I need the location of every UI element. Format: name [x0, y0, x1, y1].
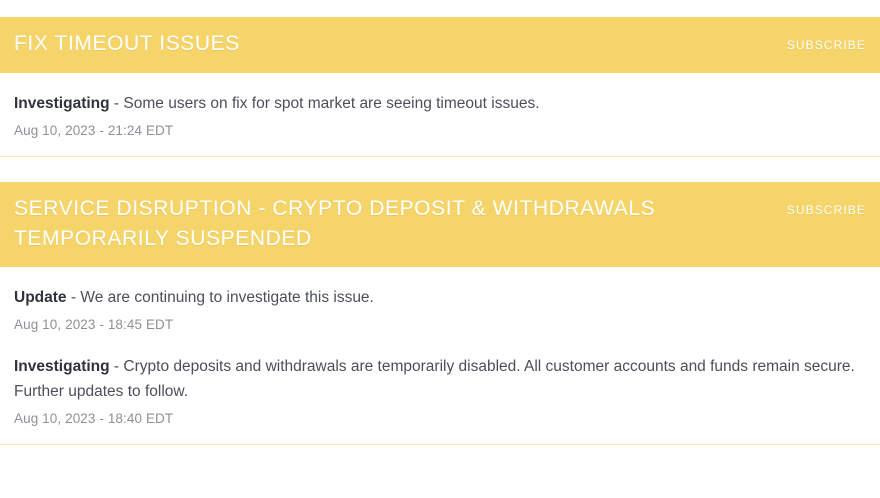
update-body: Investigating - Some users on fix for sp…	[14, 91, 866, 116]
update-entry: Investigating - Some users on fix for sp…	[14, 91, 866, 140]
incident-banner-1: SERVICE DISRUPTION - CRYPTO DEPOSIT & WI…	[0, 182, 880, 267]
update-status-label: Update	[14, 289, 67, 306]
update-message: Some users on fix for spot market are se…	[123, 95, 539, 112]
update-timestamp: Aug 10, 2023 - 18:45 EDT	[14, 315, 866, 334]
update-entry: Investigating - Crypto deposits and with…	[14, 354, 866, 428]
incident-card-1: SERVICE DISRUPTION - CRYPTO DEPOSIT & WI…	[0, 182, 880, 444]
update-entry: Update - We are continuing to investigat…	[14, 285, 866, 334]
update-status-label: Investigating	[14, 95, 110, 112]
incident-gap	[0, 157, 880, 182]
incident-card-0: FIX TIMEOUT ISSUES SUBSCRIBE Investigati…	[0, 17, 880, 156]
status-page: FIX TIMEOUT ISSUES SUBSCRIBE Investigati…	[0, 0, 880, 498]
update-message: We are continuing to investigate this is…	[80, 289, 374, 306]
bottom-strip	[0, 445, 880, 464]
update-body: Investigating - Crypto deposits and with…	[14, 354, 866, 404]
update-body: Update - We are continuing to investigat…	[14, 285, 866, 310]
incident-updates-0: Investigating - Some users on fix for sp…	[0, 73, 880, 156]
update-timestamp: Aug 10, 2023 - 21:24 EDT	[14, 121, 866, 140]
update-status-label: Investigating	[14, 358, 110, 375]
subscribe-button-1[interactable]: SUBSCRIBE	[787, 194, 866, 225]
incident-updates-1: Update - We are continuing to investigat…	[0, 267, 880, 444]
top-spacer	[0, 0, 880, 17]
update-message: Crypto deposits and withdrawals are temp…	[14, 358, 855, 400]
incident-banner-0: FIX TIMEOUT ISSUES SUBSCRIBE	[0, 17, 880, 73]
incident-title-0: FIX TIMEOUT ISSUES	[14, 29, 240, 59]
incident-title-1: SERVICE DISRUPTION - CRYPTO DEPOSIT & WI…	[14, 194, 694, 254]
update-timestamp: Aug 10, 2023 - 18:40 EDT	[14, 409, 866, 428]
subscribe-button-0[interactable]: SUBSCRIBE	[787, 29, 866, 60]
